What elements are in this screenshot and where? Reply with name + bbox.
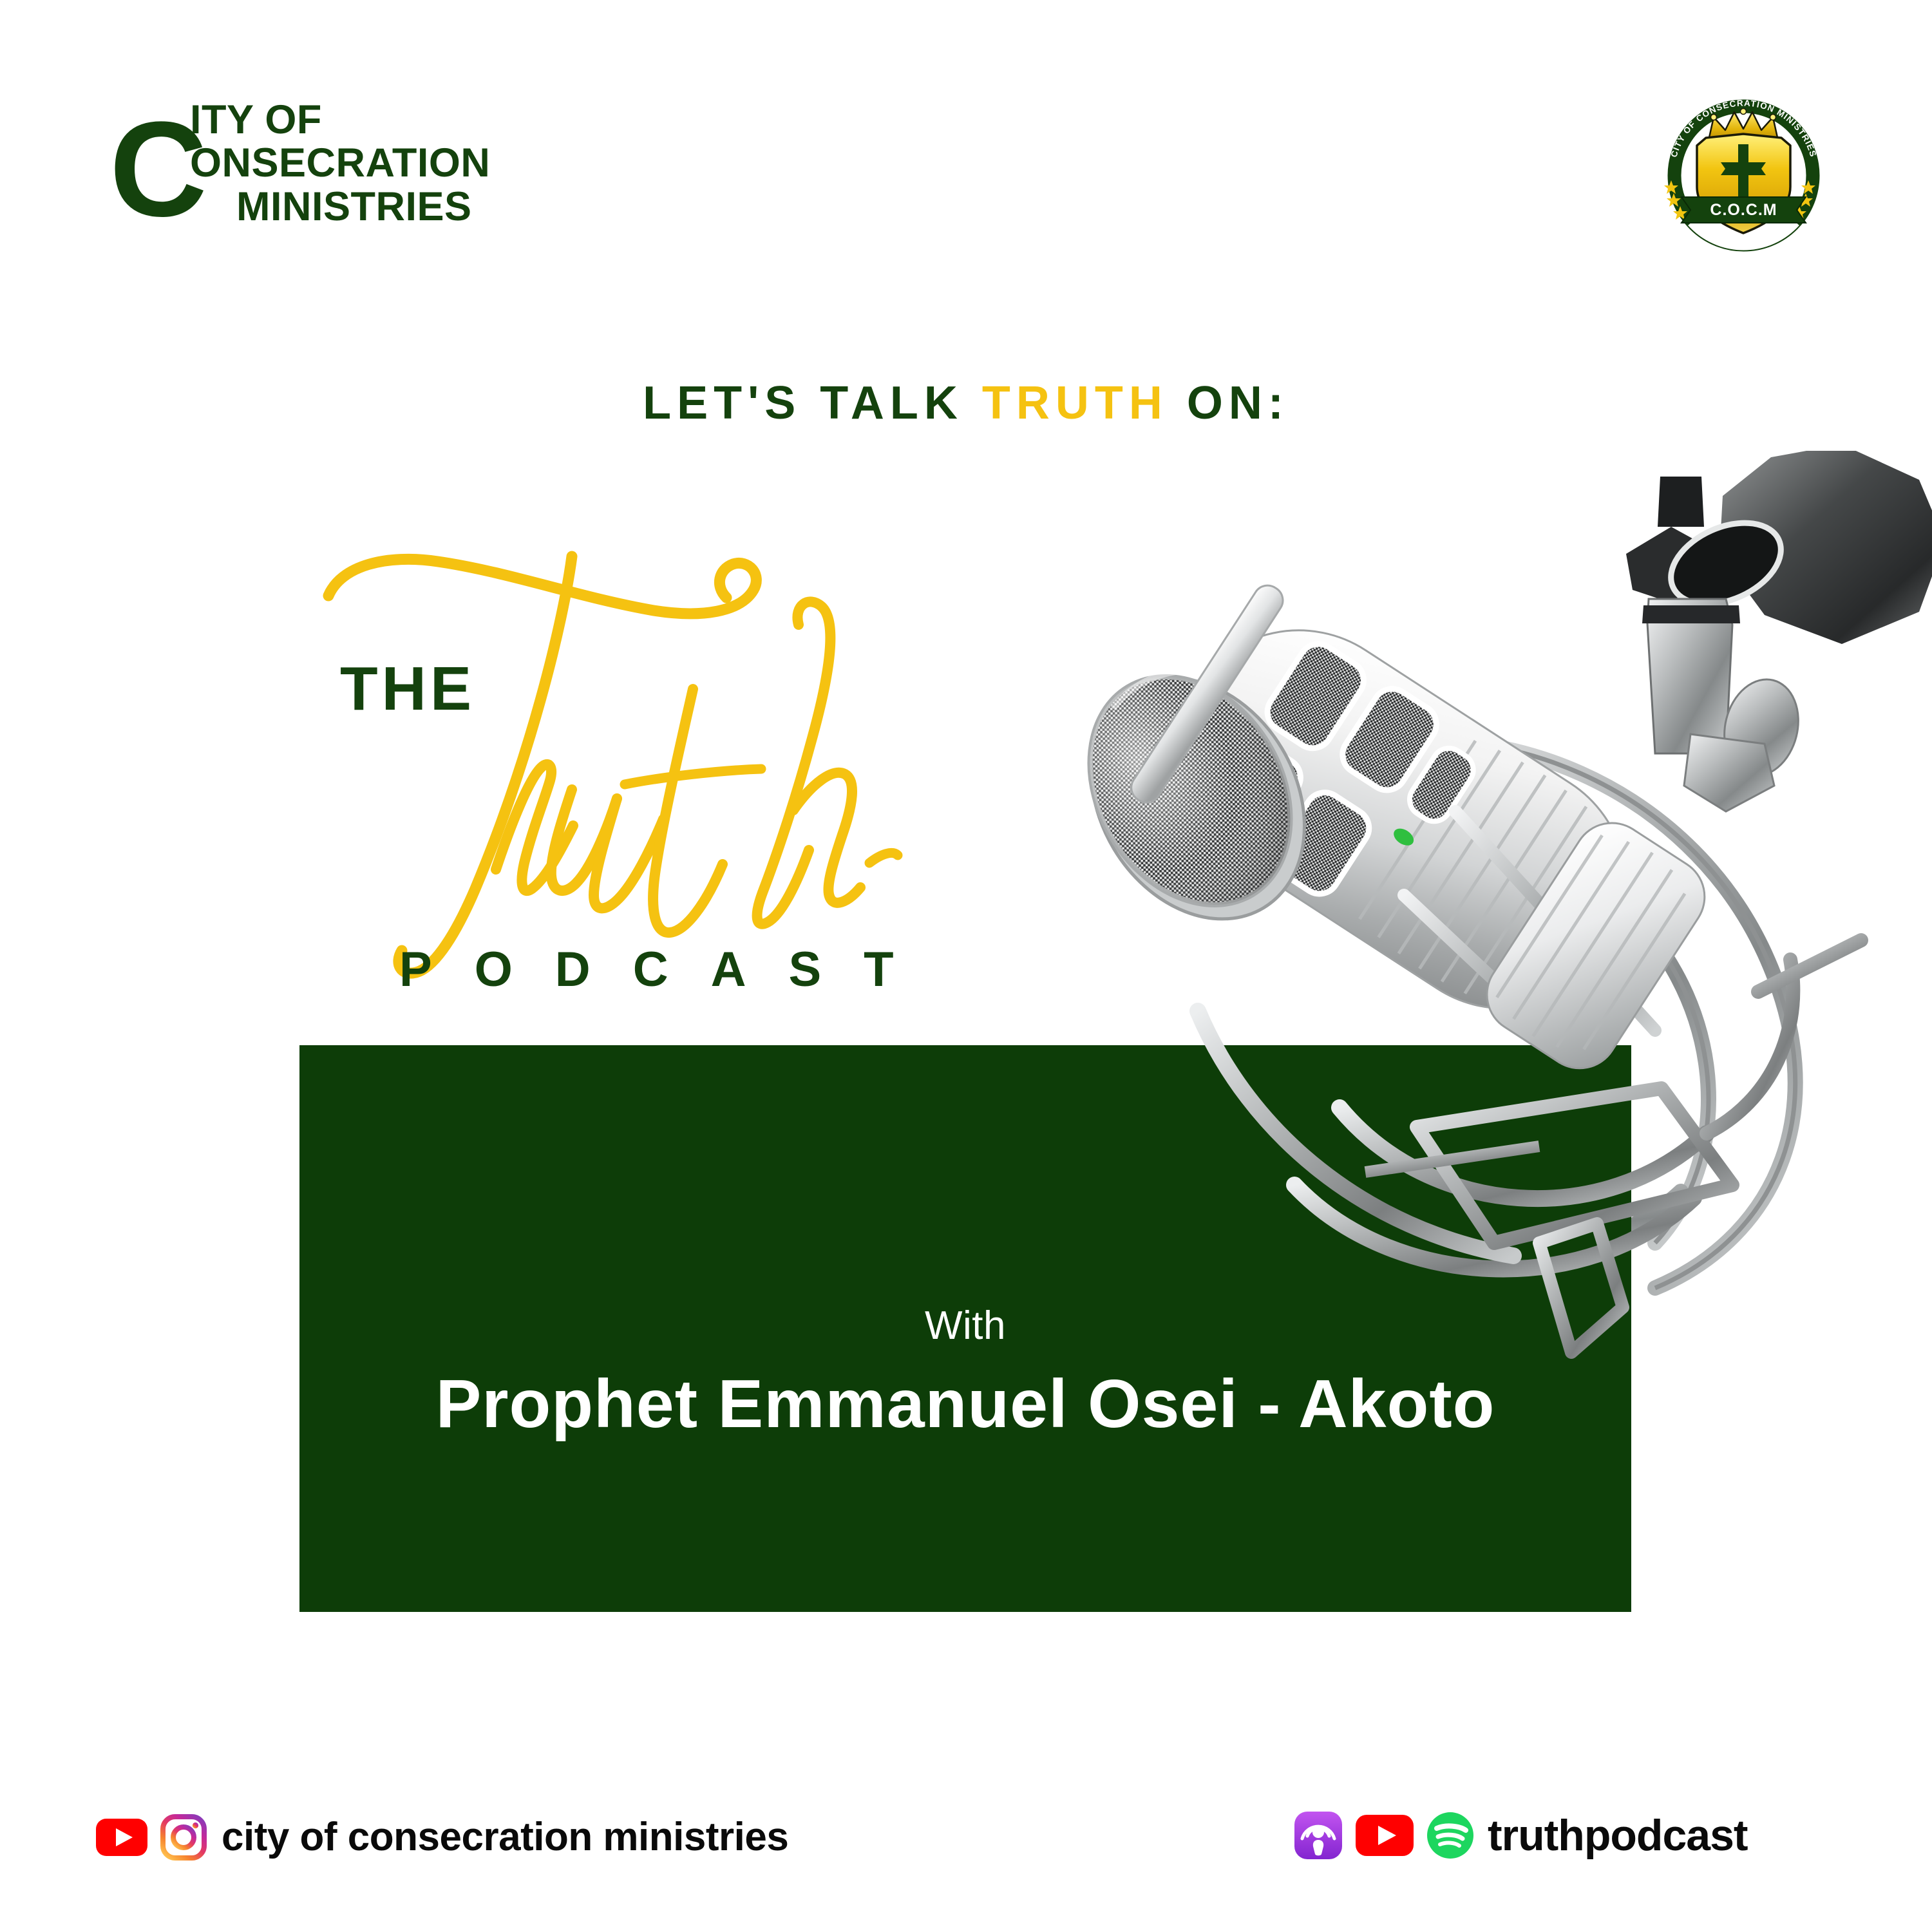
spotify-icon[interactable] xyxy=(1426,1811,1475,1860)
brand-line-ministries: MINISTRIES xyxy=(236,186,490,227)
shield-crest-icon: CITY OF CONSECRATION MINISTRIES xyxy=(1658,90,1829,261)
brand-emblem-badge: CITY OF CONSECRATION MINISTRIES xyxy=(1658,90,1829,261)
brand-wordmark-lines: ITY OF ONSECRATION MINISTRIES xyxy=(190,99,490,227)
brand-initial-c: C xyxy=(109,102,204,237)
host-with-label: With xyxy=(299,1303,1631,1349)
youtube-icon[interactable] xyxy=(1355,1814,1414,1857)
title-podcast: PODCAST xyxy=(399,945,936,994)
apple-podcasts-icon[interactable] xyxy=(1293,1810,1343,1861)
emblem-banner-text: C.O.C.M xyxy=(1710,201,1777,219)
footer-handle-left: city of consecration ministries xyxy=(222,1814,788,1860)
tagline: LET'S TALK TRUTH ON: xyxy=(0,377,1932,430)
mic-boom-mount xyxy=(1626,451,1932,811)
host-panel: With Prophet Emmanuel Osei - Akoto xyxy=(299,1045,1631,1612)
podcast-flyer: C ITY OF ONSECRATION MINISTRIES xyxy=(0,0,1932,1932)
footer-handle-right: truthpodcast xyxy=(1488,1810,1748,1861)
instagram-icon[interactable] xyxy=(160,1814,207,1861)
tagline-part-2: ON: xyxy=(1168,377,1289,429)
host-name: Prophet Emmanuel Osei - Akoto xyxy=(299,1365,1631,1443)
brand-wordmark-logo: C ITY OF ONSECRATION MINISTRIES xyxy=(109,90,509,232)
footer-social-right: truthpodcast xyxy=(1293,1800,1748,1871)
brand-line-city-of: ITY OF xyxy=(190,99,490,140)
youtube-icon[interactable] xyxy=(95,1818,148,1857)
title-the: THE xyxy=(340,658,475,720)
tagline-highlight-truth: TRUTH xyxy=(982,377,1168,429)
brand-line-consecration: ONSECRATION xyxy=(190,142,490,184)
tagline-part-1: LET'S TALK xyxy=(643,377,982,429)
footer-social-left: city of consecration ministries xyxy=(95,1803,788,1871)
